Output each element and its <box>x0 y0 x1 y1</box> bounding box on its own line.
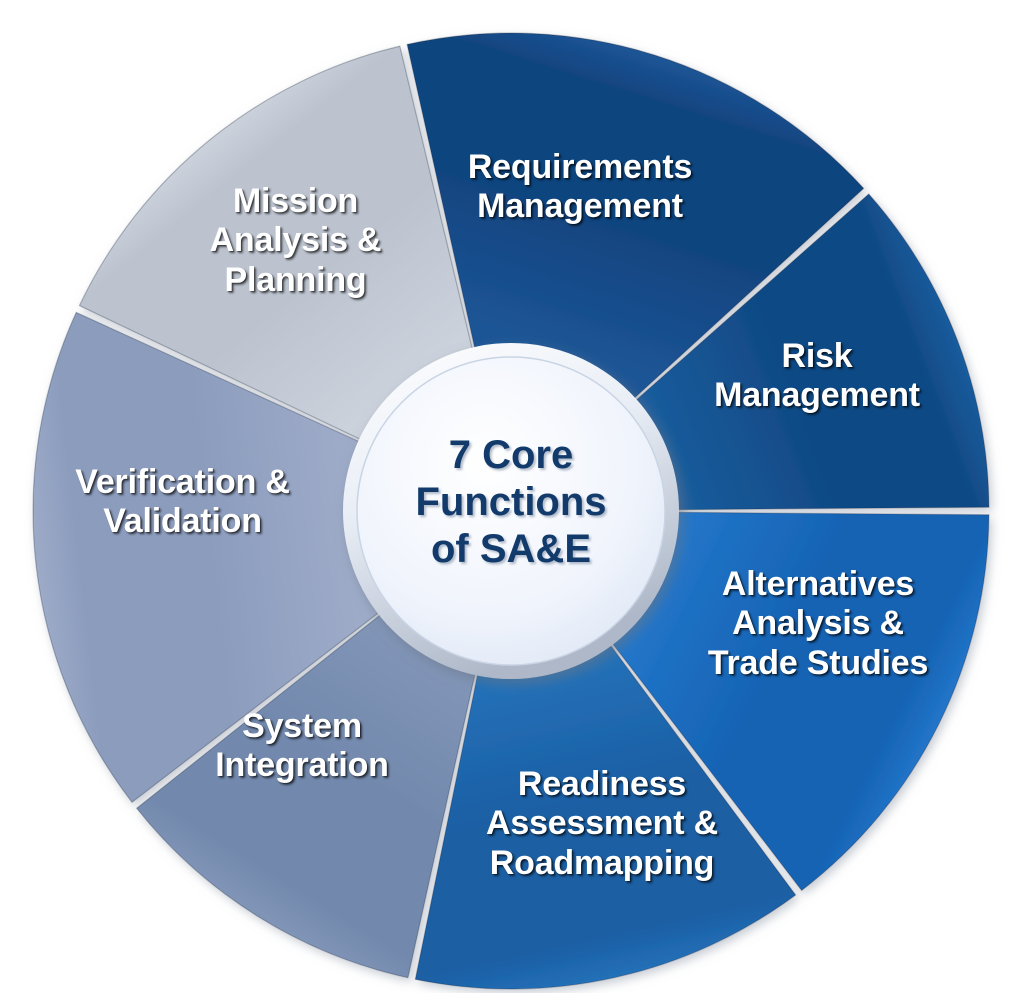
hub-center-title: 7 Core Functions of SA&E <box>371 432 651 574</box>
seven-core-functions-wheel: Requirements Management Risk Management … <box>0 0 1024 993</box>
